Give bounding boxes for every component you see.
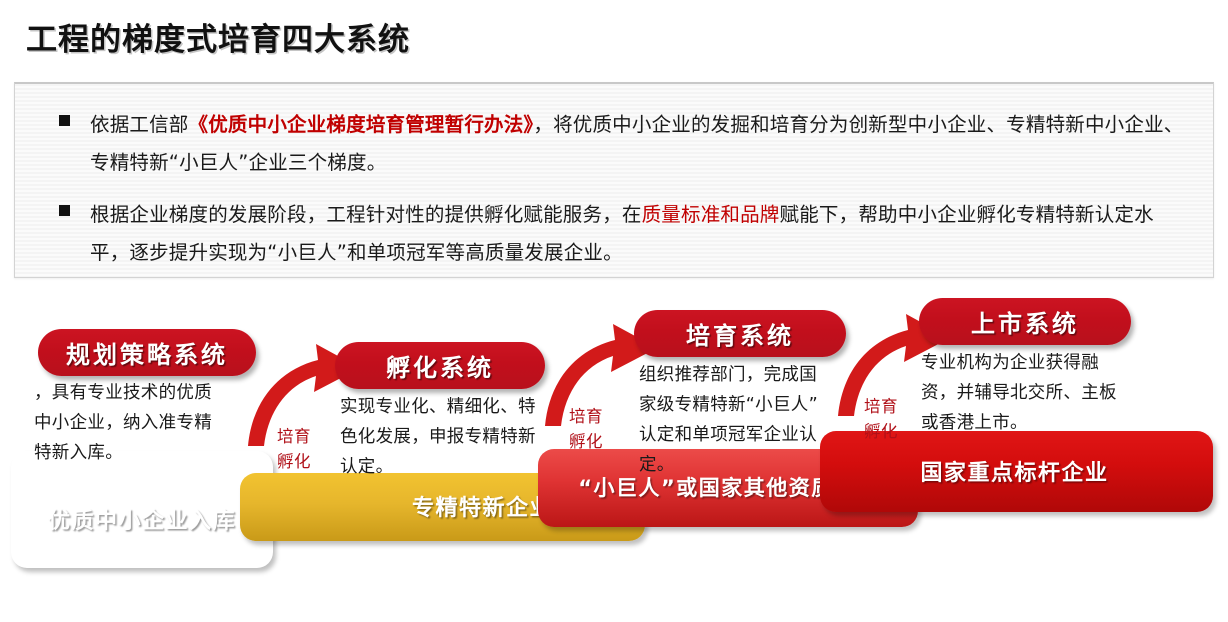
- page-title: 工程的梯度式培育四大系统: [26, 14, 410, 59]
- arrow-2-label-line1: 培育: [560, 404, 612, 429]
- bullet-text: 依据工信部《优质中小企业梯度培育管理暂行办法》，将优质中小企业的发掘和培育分为创…: [90, 106, 1187, 182]
- arrow-1-label-line2: 孵化: [268, 449, 320, 474]
- system-pill-1-label: 规划策略系统: [66, 335, 228, 370]
- arrow-2-label-line2: 孵化: [560, 429, 612, 454]
- bullet-1-seg-1: 依据工信部: [90, 113, 189, 136]
- bullet-square-icon: [59, 115, 70, 126]
- arrow-1-label-line1: 培育: [268, 424, 320, 449]
- arrow-3-label: 培育 孵化: [855, 394, 907, 444]
- bullet-item: 根据企业梯度的发展阶段，工程针对性的提供孵化赋能服务，在质量标准和品牌赋能下，帮…: [41, 196, 1187, 272]
- system-desc-3: 组织推荐部门，完成国家级专精特新“小巨人”认定和单项冠军企业认定。: [639, 360, 819, 480]
- slide-canvas: 工程的梯度式培育四大系统 依据工信部《优质中小企业梯度培育管理暂行办法》，将优质…: [0, 0, 1228, 622]
- system-pill-4-label: 上市系统: [971, 304, 1079, 339]
- arrow-2-label: 培育 孵化: [560, 404, 612, 454]
- system-pill-2[interactable]: 孵化系统: [335, 342, 545, 389]
- system-desc-4: 专业机构为企业获得融资，并辅导北交所、主板或香港上市。: [921, 348, 1133, 438]
- system-pill-3-label: 培育系统: [686, 316, 794, 351]
- system-pill-1[interactable]: 规划策略系统: [38, 329, 256, 376]
- bullet-2-seg-2-highlight: 质量标准和品牌: [642, 203, 780, 226]
- bullet-square-icon: [59, 205, 70, 216]
- system-pill-4[interactable]: 上市系统: [919, 298, 1131, 345]
- system-pill-3[interactable]: 培育系统: [634, 310, 846, 357]
- system-desc-1: ，具有专业技术的优质中小企业，纳入准专精特新入库。: [34, 378, 222, 468]
- stair-bar-1-label: 优质中小企业入库: [48, 503, 236, 537]
- bullet-2-seg-1: 根据企业梯度的发展阶段，工程针对性的提供孵化赋能服务，在: [90, 203, 642, 226]
- arrow-3-label-line1: 培育: [855, 394, 907, 419]
- arrow-3-label-line2: 孵化: [855, 419, 907, 444]
- stair-bar-4-label: 国家重点标杆企业: [920, 455, 1108, 489]
- bullet-item: 依据工信部《优质中小企业梯度培育管理暂行办法》，将优质中小企业的发掘和培育分为创…: [41, 106, 1187, 182]
- info-box: 依据工信部《优质中小企业梯度培育管理暂行办法》，将优质中小企业的发掘和培育分为创…: [14, 82, 1214, 278]
- system-desc-2: 实现专业化、精细化、特色化发展，申报专精特新认定。: [340, 392, 536, 482]
- stair-bar-2-label: 专精特新企业: [412, 490, 553, 524]
- system-pill-2-label: 孵化系统: [386, 348, 494, 383]
- bullet-text: 根据企业梯度的发展阶段，工程针对性的提供孵化赋能服务，在质量标准和品牌赋能下，帮…: [90, 196, 1187, 272]
- arrow-1-label: 培育 孵化: [268, 424, 320, 474]
- stair-bar-1[interactable]: 优质中小企业入库: [11, 451, 273, 568]
- bullet-1-seg-2-highlight: 《优质中小企业梯度培育管理暂行办法》: [189, 113, 534, 136]
